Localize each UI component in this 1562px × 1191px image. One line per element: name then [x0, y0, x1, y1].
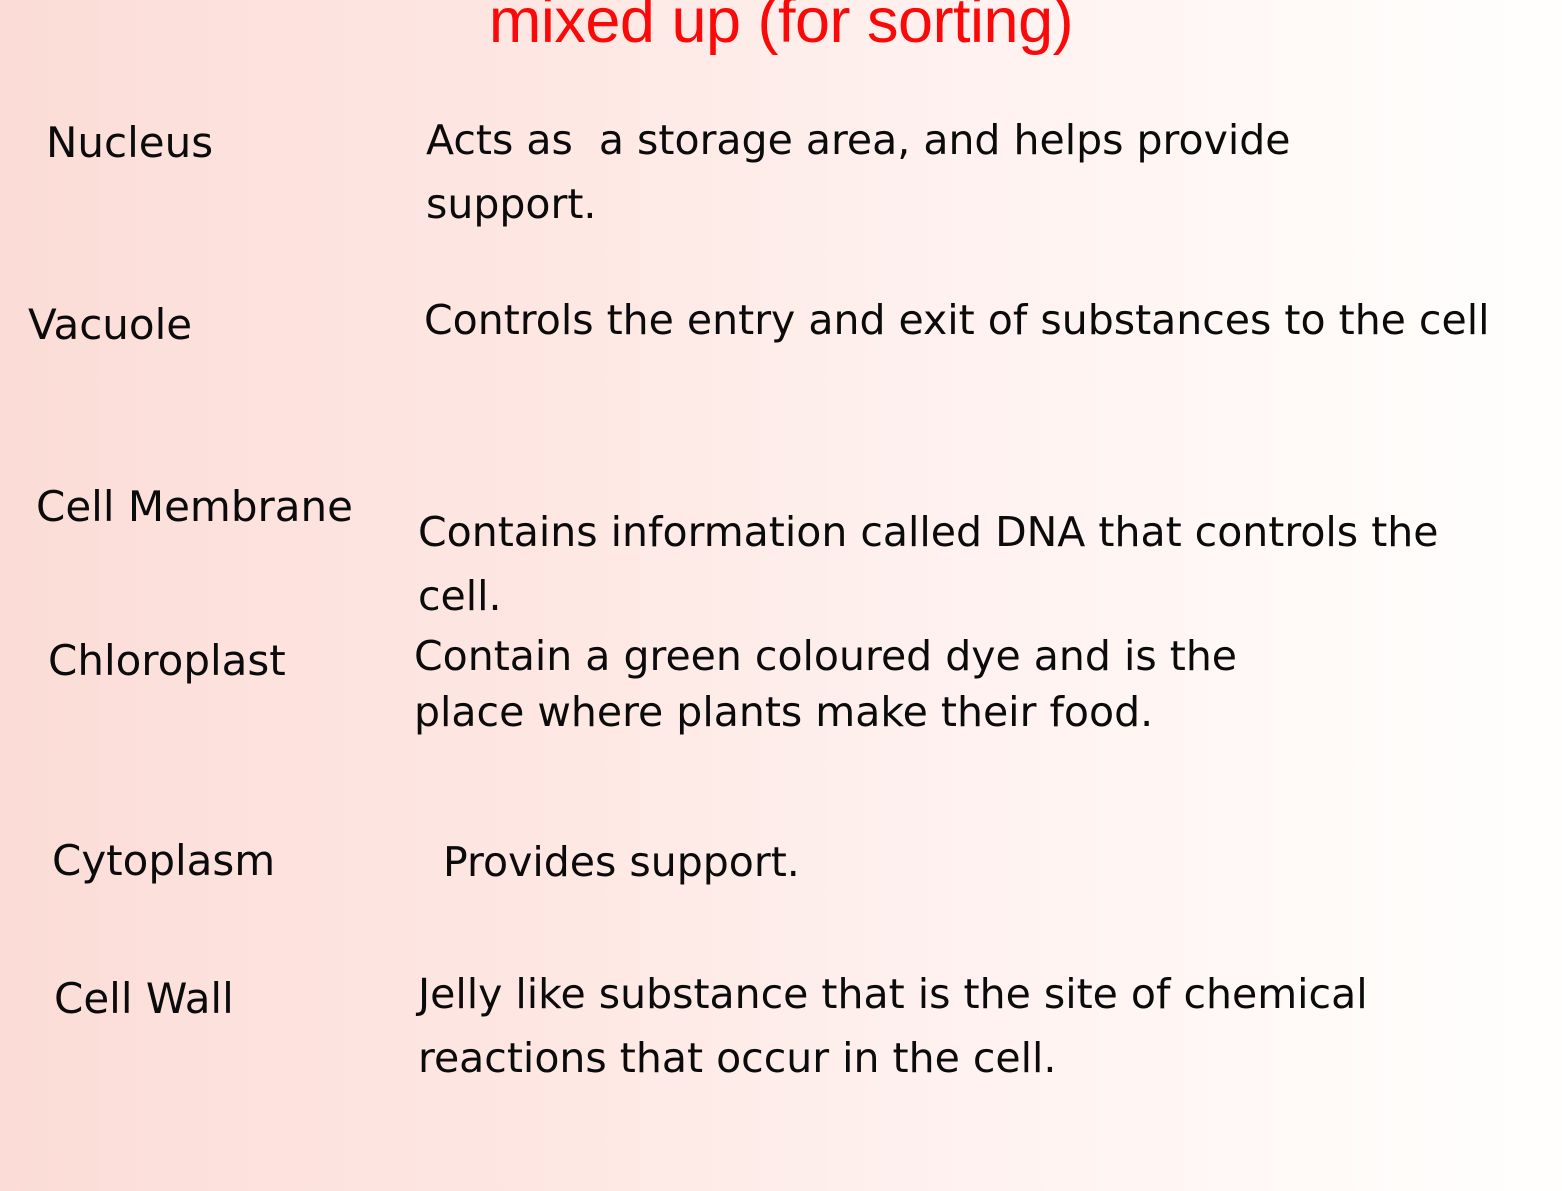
organelle-label[interactable]: Cytoplasm [52, 836, 275, 886]
organelle-label[interactable]: Cell Membrane [36, 482, 353, 532]
organelle-description[interactable]: Provides support. [430, 830, 1130, 894]
organelle-description[interactable]: Acts as a storage area, and helps provid… [426, 108, 1366, 236]
organelle-description[interactable]: Contains information called DNA that con… [418, 500, 1478, 628]
organelle-label[interactable]: Nucleus [46, 118, 213, 168]
organelle-label[interactable]: Chloroplast [48, 636, 286, 686]
organelle-label[interactable]: Cell Wall [54, 974, 234, 1024]
slide-title: mixed up (for sorting) [0, 0, 1562, 58]
organelle-description[interactable]: Contain a green coloured dye and is the … [414, 628, 1314, 740]
slide-canvas: mixed up (for sorting) Nucleus Acts as a… [0, 0, 1562, 1191]
organelle-description[interactable]: Jelly like substance that is the site of… [418, 962, 1488, 1090]
organelle-description[interactable]: Controls the entry and exit of substance… [424, 288, 1514, 352]
organelle-label[interactable]: Vacuole [28, 300, 192, 350]
